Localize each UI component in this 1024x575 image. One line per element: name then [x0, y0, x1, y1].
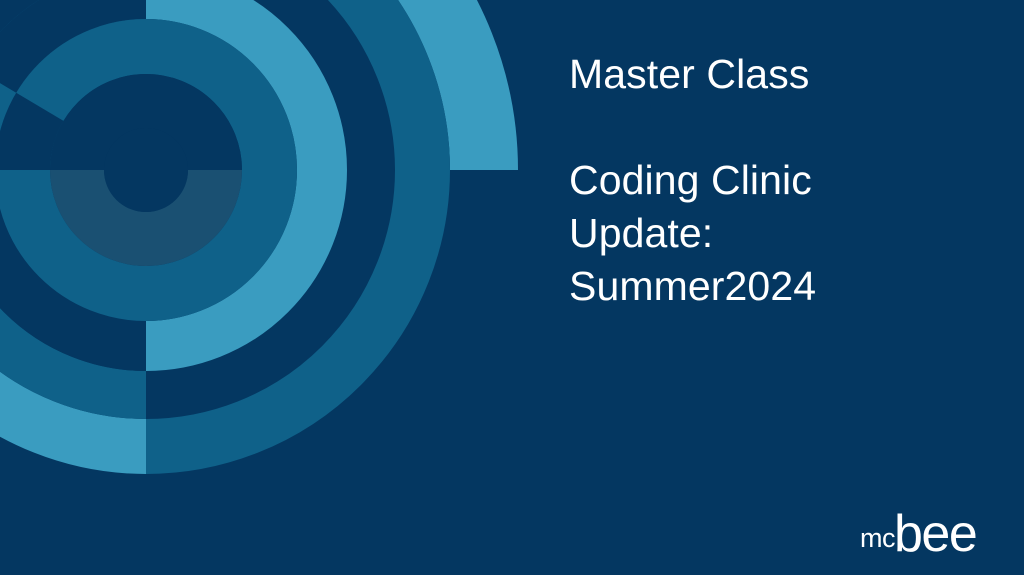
page-title: Master Class	[569, 48, 989, 101]
concentric-rings-graphic	[0, 0, 520, 520]
mcbee-logo: mc bee	[860, 507, 1000, 561]
logo-text-small: mc	[860, 523, 895, 553]
title-spacer	[569, 101, 989, 154]
subtitle-line-2: Update:	[569, 207, 989, 260]
title-slide: Master Class Coding Clinic Update: Summe…	[0, 0, 1024, 575]
title-block: Master Class Coding Clinic Update: Summe…	[569, 48, 989, 313]
subtitle-line-3: Summer2024	[569, 260, 989, 313]
logo-text-large: bee	[894, 507, 976, 561]
subtitle-line-1: Coding Clinic	[569, 154, 989, 207]
